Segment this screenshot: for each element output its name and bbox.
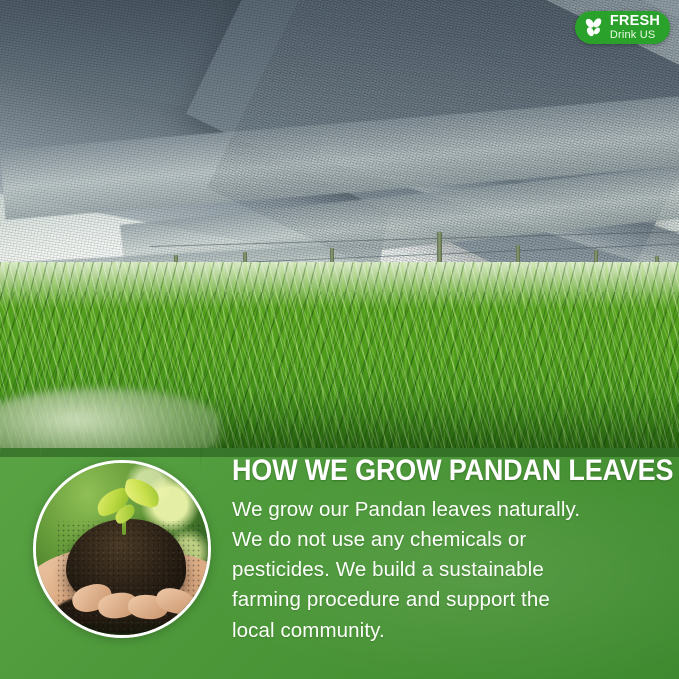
logo-text: FRESH Drink US xyxy=(610,14,660,42)
logo-primary-text: FRESH xyxy=(610,14,660,29)
body-line: local community. xyxy=(232,616,662,646)
body-line: We grow our Pandan leaves naturally. xyxy=(232,495,662,525)
body-line: pesticides. We build a sustainable xyxy=(232,555,662,585)
body-line: farming procedure and support the xyxy=(232,585,662,615)
banner-text-block: HOW WE GROW PANDAN LEAVES We grow our Pa… xyxy=(232,456,662,646)
fresh-drink-us-logo[interactable]: FRESH Drink US xyxy=(575,11,670,44)
greenhouse-photo xyxy=(0,0,679,460)
product-infographic-card: FRESH Drink US HOW WE GROW PANDAN LEAVES… xyxy=(0,0,679,679)
seedling-in-hands-photo xyxy=(33,460,211,638)
body-line: We do not use any chemicals or xyxy=(232,525,662,555)
logo-secondary-text: Drink US xyxy=(610,30,660,41)
banner-body-text: We grow our Pandan leaves naturally. We … xyxy=(232,495,662,646)
page-title: HOW WE GROW PANDAN LEAVES xyxy=(232,456,625,486)
leaf-cluster-icon xyxy=(582,16,605,39)
soil-grain-texture xyxy=(58,521,200,633)
